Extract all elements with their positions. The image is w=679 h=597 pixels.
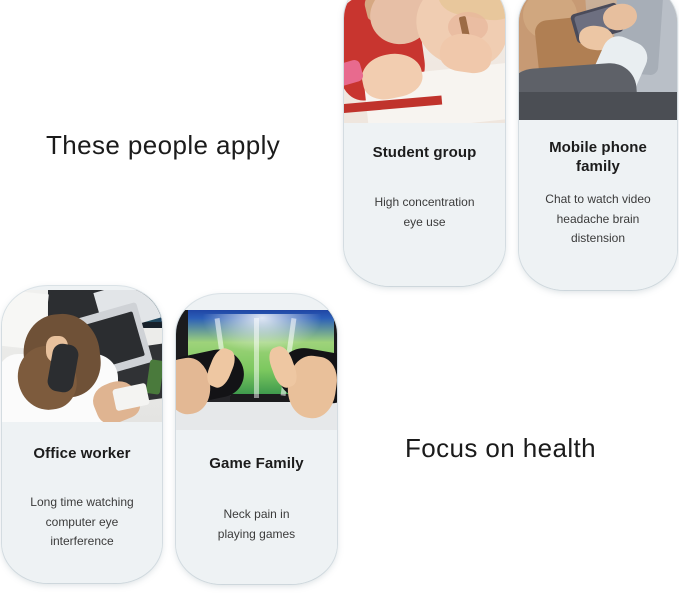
student-group-photo [344,0,505,123]
description-line: Chat to watch video [529,190,667,209]
card-game-family[interactable]: Game Family Neck pain in playing games [176,294,337,584]
description-line: distension [529,229,667,248]
office-worker-body: Office worker Long time watching compute… [2,422,162,583]
description-line: computer eye [12,513,152,532]
game-family-description: Neck pain in playing games [176,505,337,544]
title-line: Mobile phone [527,138,669,157]
description-line: Long time watching [12,493,152,512]
title-line: family [527,157,669,176]
description-line: eye use [354,213,495,232]
heading-focus-on-health: Focus on health [405,433,596,464]
description-line: headache brain [529,210,667,229]
office-worker-photo [2,290,162,422]
student-group-body: Student group High concentration eye use [344,123,505,286]
student-group-description: High concentration eye use [344,193,505,232]
promo-graphic: These people apply Focus on health [0,0,679,597]
description-line: playing games [186,525,327,544]
game-family-title: Game Family [176,454,337,473]
description-line: High concentration [354,193,495,212]
card-mobile-phone-family[interactable]: Mobile phone family Chat to watch video … [519,0,677,290]
student-group-title: Student group [344,143,505,162]
game-family-photo [176,310,337,430]
description-line: Neck pain in [186,505,327,524]
heading-these-people-apply: These people apply [46,130,280,161]
card-office-worker[interactable]: Office worker Long time watching compute… [2,286,162,583]
mobile-phone-family-title: Mobile phone family [519,138,677,176]
card-student-group[interactable]: Student group High concentration eye use [344,0,505,286]
office-worker-description: Long time watching computer eye interfer… [2,493,162,551]
game-family-body: Game Family Neck pain in playing games [176,430,337,584]
office-worker-title: Office worker [2,444,162,463]
mobile-phone-family-body: Mobile phone family Chat to watch video … [519,120,677,290]
mobile-phone-family-description: Chat to watch video headache brain diste… [519,190,677,248]
mobile-phone-family-photo [519,0,677,120]
description-line: interference [12,532,152,551]
